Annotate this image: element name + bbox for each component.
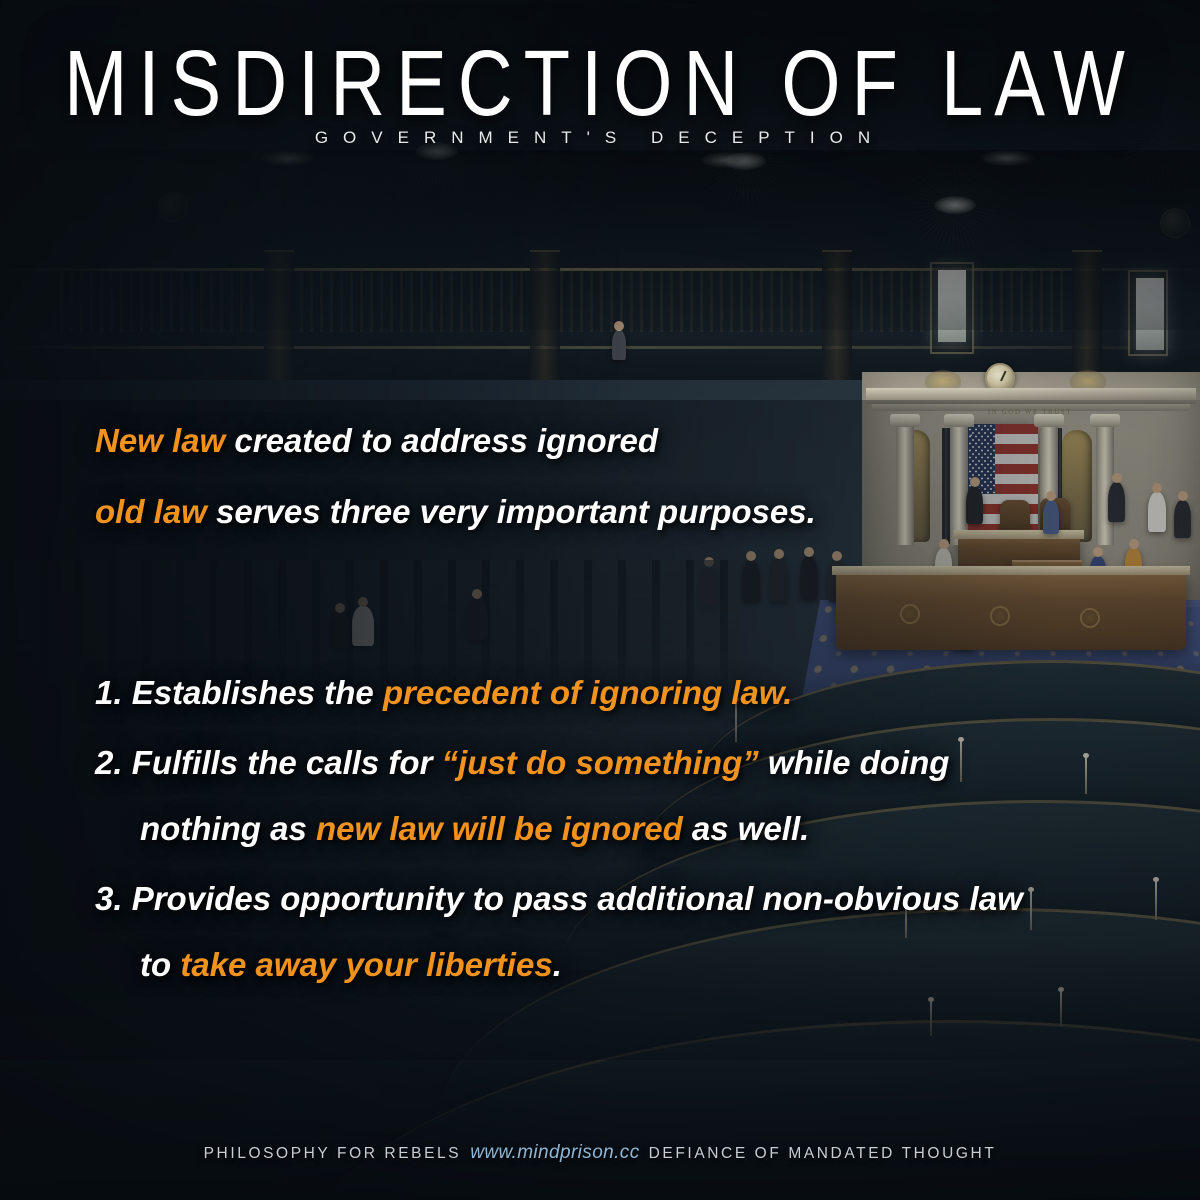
list-item-1-number: 1. [95,674,123,711]
list-item-1-text-before: Establishes the [123,674,383,711]
intro-highlight-new-law: New law [95,422,225,459]
website-link[interactable]: www.mindprison.cc [470,1142,639,1163]
intro-line-1-rest: created to address ignored [225,422,658,459]
list-item-2-line2-after: as well. [683,810,810,847]
list-item-1: 1. Establishes the precedent of ignoring… [95,676,1165,709]
poster-content: MISDIRECTION OF LAW GOVERNMENT'S DECEPTI… [0,0,1200,1200]
intro-line-1: New law created to address ignored [95,424,1155,457]
page-title: MISDIRECTION OF LAW [0,38,1200,131]
list-item-2-text-after: while doing [759,744,950,781]
intro-paragraph: New law created to address ignored old l… [95,424,1155,566]
footer-tagline-left: PHILOSOPHY FOR REBELS [204,1145,462,1162]
list-item-2-text-before: Fulfills the calls for [123,744,442,781]
footer-tagline-right: DEFIANCE OF MANDATED THOUGHT [649,1145,997,1162]
list-item-3-line2-after: . [553,946,562,983]
list-item-2-line2-before: nothing as [140,810,316,847]
intro-line-2: old law serves three very important purp… [95,495,1155,528]
list-item-3-line2-highlight: take away your liberties [180,946,552,983]
list-item-3: 3. Provides opportunity to pass addition… [95,882,1165,981]
list-item-3-line-2: to take away your liberties. [95,948,1165,981]
list-item-2: 2. Fulfills the calls for “just do somet… [95,746,1165,845]
list-item-2-line-2: nothing as new law will be ignored as we… [95,812,1165,845]
page-subtitle: GOVERNMENT'S DECEPTION [0,128,1200,148]
list-item-3-line2-before: to [140,946,180,983]
intro-line-2-rest: serves three very important purposes. [207,493,816,530]
numbered-list: 1. Establishes the precedent of ignoring… [95,676,1165,1018]
footer-bar: PHILOSOPHY FOR REBELSwww.mindprison.ccDE… [0,1142,1200,1164]
list-item-1-highlight: precedent of ignoring law. [383,674,792,711]
list-item-2-number: 2. [95,744,123,781]
list-item-3-text-before: Provides opportunity to pass additional … [123,880,1023,917]
intro-highlight-old-law: old law [95,493,207,530]
list-item-2-highlight: “just do something” [442,744,759,781]
list-item-2-line2-highlight: new law will be ignored [316,810,683,847]
list-item-3-number: 3. [95,880,123,917]
poster: IN GOD WE TRUST [0,0,1200,1200]
